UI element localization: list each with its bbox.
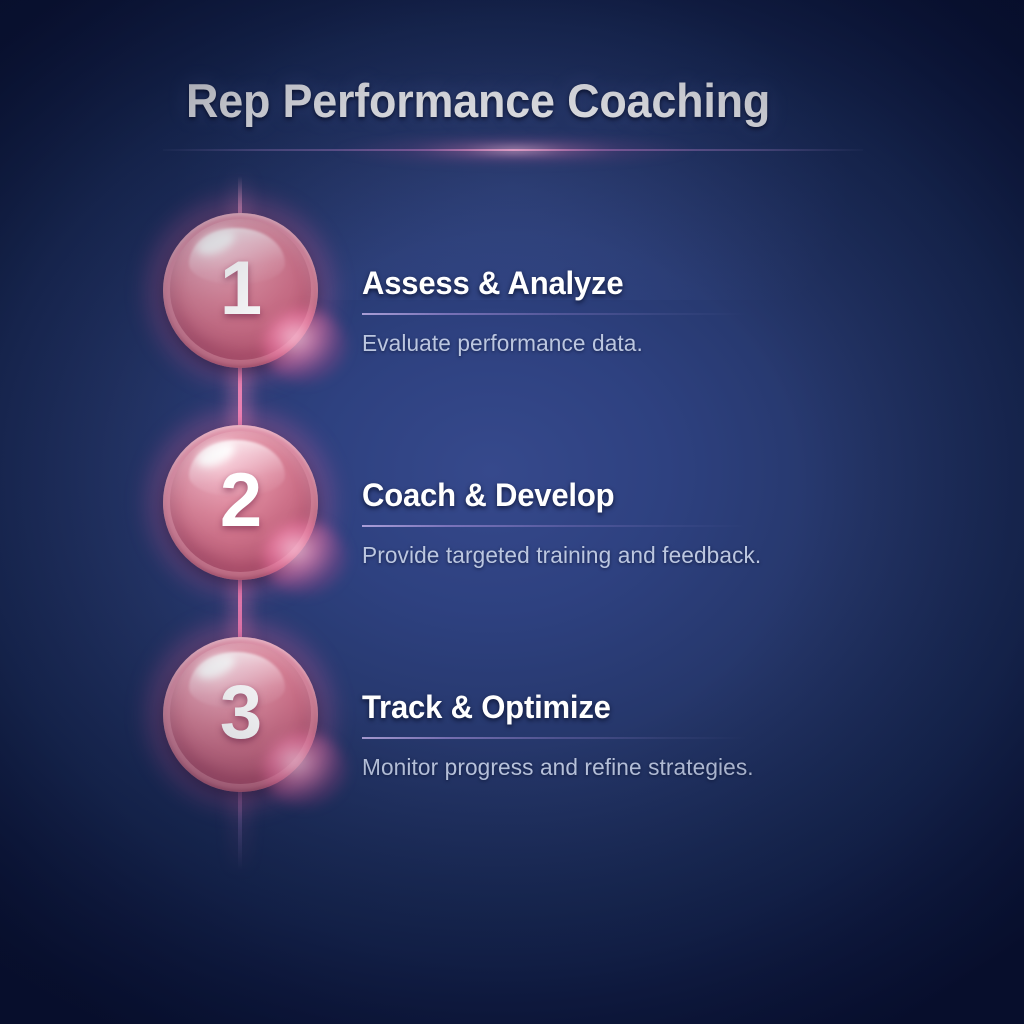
- step-title: Track & Optimize: [362, 689, 963, 726]
- badge-ring-icon: 3: [163, 637, 318, 792]
- step-item-1[interactable]: 1 Assess & Analyze Evaluate performance …: [0, 205, 1024, 405]
- step-description: Evaluate performance data.: [362, 330, 973, 357]
- step-divider: [362, 313, 747, 315]
- step-number-label: 3: [163, 637, 318, 792]
- step-item-2[interactable]: 2 Coach & Develop Provide targeted train…: [0, 417, 1024, 617]
- step-badge-2[interactable]: 2: [155, 417, 325, 587]
- step-text-block: Assess & Analyze Evaluate performance da…: [362, 265, 982, 357]
- title-divider: [163, 149, 863, 151]
- step-title: Coach & Develop: [362, 477, 963, 514]
- step-divider: [362, 737, 747, 739]
- step-number-label: 2: [163, 425, 318, 580]
- step-title: Assess & Analyze: [362, 265, 963, 302]
- step-text-block: Track & Optimize Monitor progress and re…: [362, 689, 982, 781]
- step-text-block: Coach & Develop Provide targeted trainin…: [362, 477, 982, 569]
- step-divider: [362, 525, 747, 527]
- step-badge-1[interactable]: 1: [155, 205, 325, 375]
- infographic-canvas: Rep Performance Coaching 1 Assess & Anal…: [0, 0, 1024, 1024]
- badge-ring-icon: 2: [163, 425, 318, 580]
- page-title: Rep Performance Coaching: [186, 76, 912, 125]
- step-description: Monitor progress and refine strategies.: [362, 754, 973, 781]
- step-item-3[interactable]: 3 Track & Optimize Monitor progress and …: [0, 629, 1024, 829]
- step-description: Provide targeted training and feedback.: [362, 542, 973, 569]
- step-number-label: 1: [163, 213, 318, 368]
- badge-ring-icon: 1: [163, 213, 318, 368]
- step-badge-3[interactable]: 3: [155, 629, 325, 799]
